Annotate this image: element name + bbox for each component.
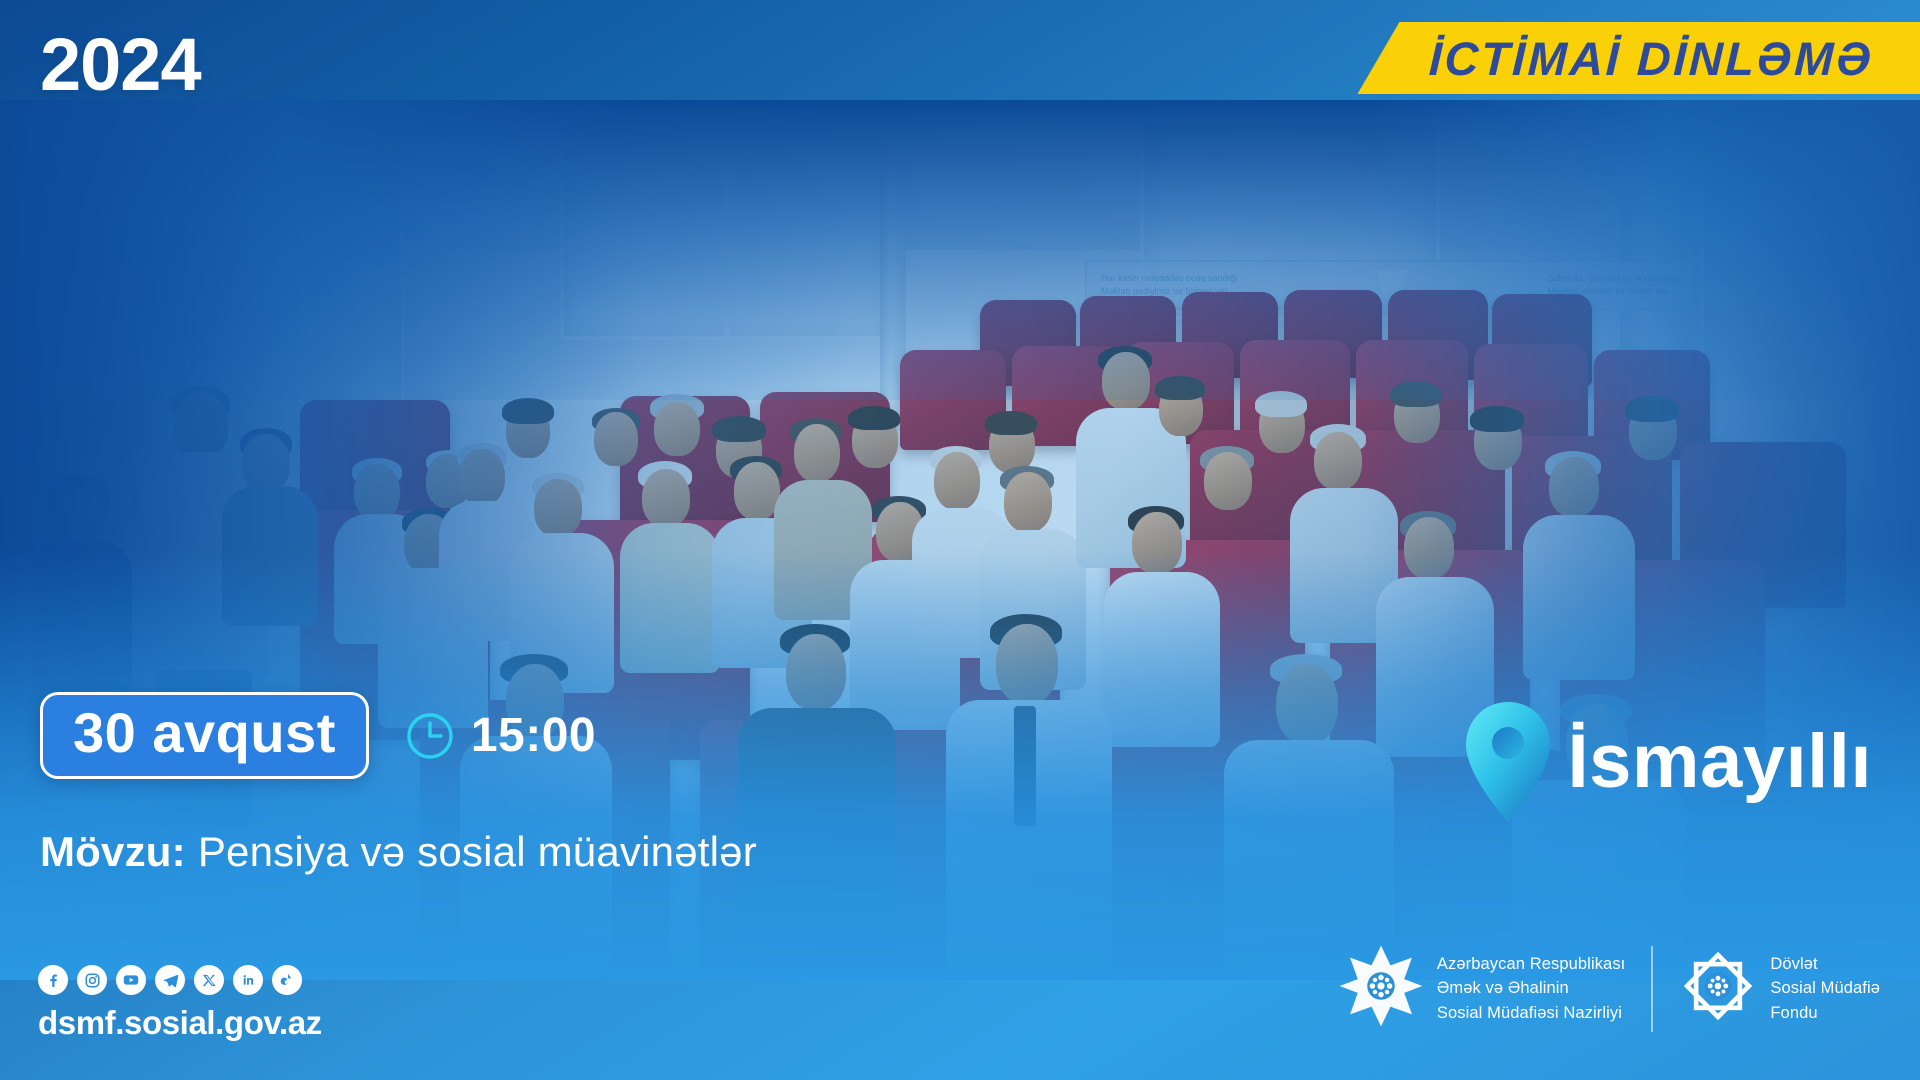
dsmf-star-emblem-icon bbox=[1679, 947, 1757, 1030]
poster-canvas: Hər kəsin müqəddəs ocaq sandığı Məktəb d… bbox=[0, 0, 1920, 1080]
topic-value: Pensiya və sosial müavinətlər bbox=[198, 828, 757, 876]
time-label: 15:00 bbox=[471, 708, 596, 763]
location-name: İsmayıllı bbox=[1568, 724, 1872, 800]
map-pin-icon bbox=[1462, 700, 1554, 824]
date-badge: 30 avqust bbox=[40, 692, 369, 779]
x-twitter-icon[interactable] bbox=[194, 965, 224, 995]
ministry-logo-unit: Azərbaycan Respublikası Əmək və Əhalinin… bbox=[1338, 943, 1625, 1034]
social-block: dsmf.sosial.gov.az bbox=[38, 965, 322, 1042]
time-group: 15:00 bbox=[405, 708, 596, 763]
fund-logo-text: Dövlət Sosial Müdafiə Fondu bbox=[1770, 952, 1880, 1025]
year-label: 2024 bbox=[40, 28, 201, 102]
topic-row: Mövzu: Pensiya və sosial müavinətlər bbox=[40, 828, 757, 876]
footer-logos: Azərbaycan Respublikası Əmək və Əhalinin… bbox=[1338, 943, 1880, 1034]
site-url[interactable]: dsmf.sosial.gov.az bbox=[38, 1004, 322, 1042]
event-photo: Hər kəsin müqəddəs ocaq sandığı Məktəb d… bbox=[0, 0, 1920, 1080]
header-banner-label: İCTİMAİ DİNLƏMƏ bbox=[1428, 31, 1874, 86]
tiktok-icon[interactable] bbox=[272, 965, 302, 995]
clock-icon bbox=[405, 711, 455, 761]
social-icon-list bbox=[38, 965, 322, 995]
date-time-row: 30 avqust 15:00 bbox=[40, 692, 596, 779]
telegram-icon[interactable] bbox=[155, 965, 185, 995]
topic-label: Mövzu: bbox=[40, 828, 186, 876]
facebook-icon[interactable] bbox=[38, 965, 68, 995]
header-banner: İCTİMAİ DİNLƏMƏ bbox=[1357, 22, 1920, 94]
youtube-icon[interactable] bbox=[116, 965, 146, 995]
ministry-logo-text: Azərbaycan Respublikası Əmək və Əhalinin… bbox=[1437, 952, 1625, 1025]
linkedin-icon[interactable] bbox=[233, 965, 263, 995]
instagram-icon[interactable] bbox=[77, 965, 107, 995]
location-row: İsmayıllı bbox=[1462, 700, 1872, 824]
azerbaijan-star-emblem-icon bbox=[1338, 943, 1424, 1034]
date-label: 30 avqust bbox=[73, 704, 336, 762]
logo-divider bbox=[1651, 946, 1653, 1032]
fund-logo-unit: Dövlət Sosial Müdafiə Fondu bbox=[1679, 947, 1880, 1030]
